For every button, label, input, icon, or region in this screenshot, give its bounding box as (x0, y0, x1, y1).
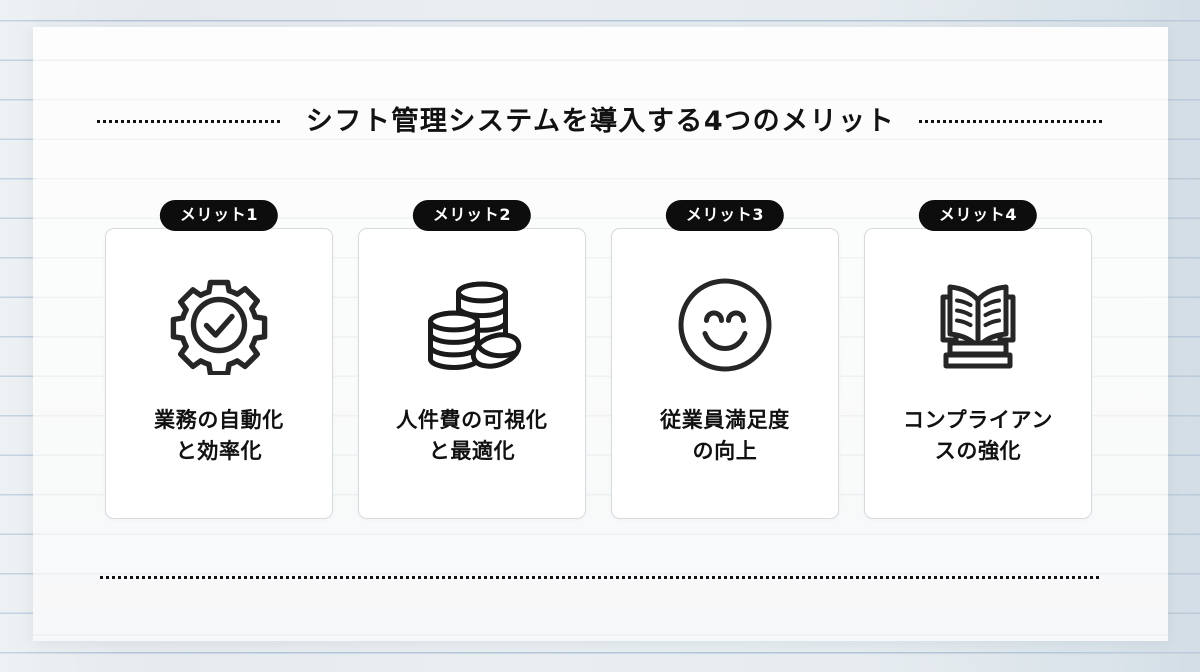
open-book-icon (922, 271, 1034, 379)
card-body-4[interactable]: コンプライアン スの強化 (864, 228, 1092, 519)
card-title-4: コンプライアン スの強化 (889, 405, 1067, 467)
badge-label-1: メリット1 (160, 200, 278, 231)
smiley-face-icon (669, 271, 781, 379)
slide-canvas: シフト管理システムを導入する4つのメリット メリット1 業務の自動化 と効率化 (0, 0, 1200, 672)
card-body-2[interactable]: 人件費の可視化 と最適化 (358, 228, 586, 519)
card-title-3: 従業員満足度 の向上 (636, 405, 814, 467)
badge-label-2: メリット2 (413, 200, 531, 231)
badge-label-4: メリット4 (919, 200, 1037, 231)
benefit-card-3[interactable]: メリット3 従業員満足度 の向上 (611, 200, 839, 519)
coin-stack-icon (416, 271, 528, 379)
benefit-card-list: メリット1 業務の自動化 と効率化 メリット2 (105, 200, 1100, 519)
badge-label-3: メリット3 (666, 200, 784, 231)
benefit-card-2[interactable]: メリット2 (358, 200, 586, 519)
content-panel: シフト管理システムを導入する4つのメリット メリット1 業務の自動化 と効率化 (33, 27, 1168, 641)
dotted-rule-footer-icon (100, 576, 1101, 579)
benefit-card-4[interactable]: メリット4 (864, 200, 1092, 519)
card-title-1: 業務の自動化 と効率化 (130, 405, 308, 467)
card-body-1[interactable]: 業務の自動化 と効率化 (105, 228, 333, 519)
benefit-card-1[interactable]: メリット1 業務の自動化 と効率化 (105, 200, 333, 519)
gear-check-icon (163, 271, 275, 379)
card-body-3[interactable]: 従業員満足度 の向上 (611, 228, 839, 519)
dotted-rule-left-icon (97, 120, 282, 123)
header: シフト管理システムを導入する4つのメリット (33, 97, 1168, 145)
page-title: シフト管理システムを導入する4つのメリット (306, 108, 895, 135)
dotted-rule-right-icon (919, 120, 1104, 123)
card-title-2: 人件費の可視化 と最適化 (383, 405, 561, 467)
